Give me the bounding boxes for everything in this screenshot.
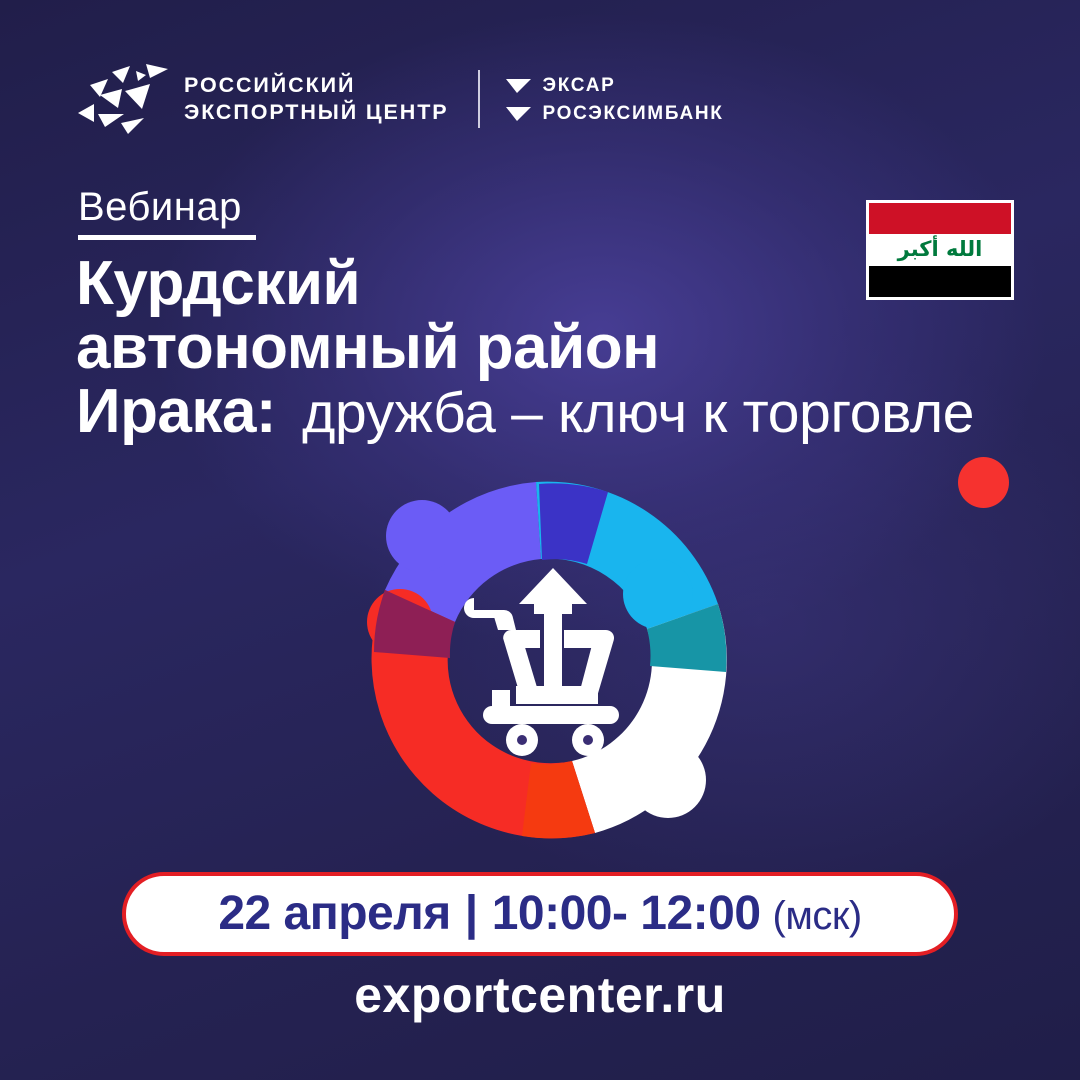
sub-brands: ЭКСАР РОСЭКСИМБАНК [506,76,723,123]
title-line-3-light: дружба – ключ к торговле [302,384,974,443]
org-line-1: РОССИЙСКИЙ [184,75,448,97]
brand-eksar-label: ЭКСАР [542,76,615,95]
event-time: 10:00- 12:00 [492,890,761,938]
brand-header: РОССИЙСКИЙ ЭКСПОРТНЫЙ ЦЕНТР ЭКСАР РОСЭКС… [78,58,724,140]
brand-eksar: ЭКСАР [506,76,723,95]
title-line-3: Ирака: дружба – ключ к торговле [76,380,1036,444]
iraq-flag: الله أكبر [866,200,1014,300]
kicker-block: Вебинар [78,186,256,240]
brand-roseximbank-label: РОСЭКСИМБАНК [542,104,723,123]
triangle-down-icon [506,78,531,93]
shopping-cart-up-arrow-icon [464,568,619,756]
event-datetime-badge: 22 апреля | 10:00- 12:00 (мск) [122,872,958,956]
puzzle-ring-with-export-cart [320,444,780,884]
title-line-2: автономный район [76,316,1036,380]
flag-band-red [869,203,1011,234]
event-type-label: Вебинар [78,186,256,228]
datetime-separator: | [465,890,478,938]
flag-takbir-script: الله أكبر [898,239,983,260]
poster-canvas: РОССИЙСКИЙ ЭКСПОРТНЫЙ ЦЕНТР ЭКСАР РОСЭКС… [0,0,1080,1080]
website-url[interactable]: exportcenter.ru [0,970,1080,1020]
event-timezone: (мск) [773,896,862,936]
red-circle-dot [958,457,1009,508]
org-line-2: ЭКСПОРТНЫЙ ЦЕНТР [184,102,448,124]
rec-abstract-triangles-logo [78,61,170,137]
flag-band-black [869,266,1011,297]
event-datetime-text: 22 апреля | 10:00- 12:00 (мск) [218,890,861,938]
brand-roseximbank: РОСЭКСИМБАНК [506,104,723,123]
triangle-down-icon [506,106,531,121]
flag-band-white: الله أكبر [869,234,1011,265]
kicker-underline [78,235,256,240]
title-line-3-bold: Ирака: [76,380,276,444]
header-divider [478,70,480,128]
org-name: РОССИЙСКИЙ ЭКСПОРТНЫЙ ЦЕНТР [184,75,448,123]
event-date: 22 апреля [218,890,450,938]
